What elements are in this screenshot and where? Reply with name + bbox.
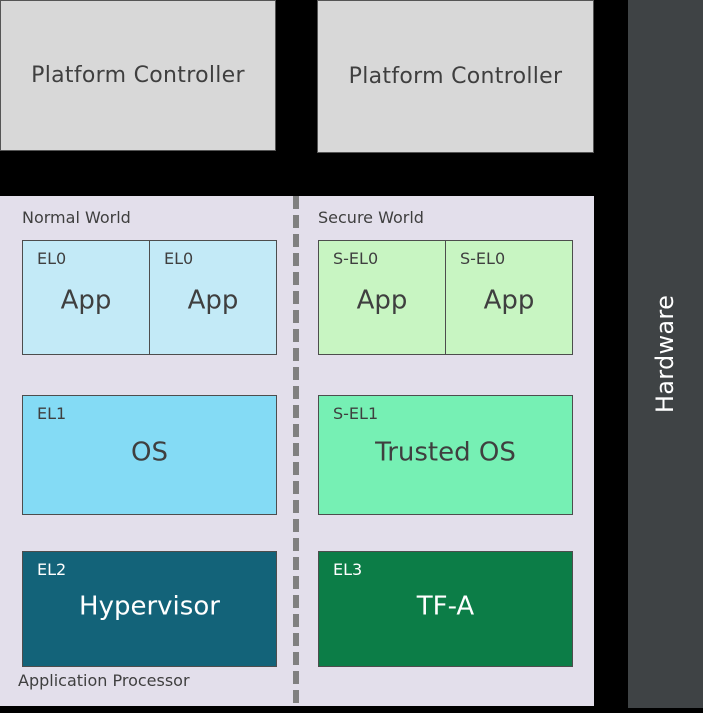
platform-controller-label: Platform Controller [31, 63, 245, 88]
exception-level-tag: S-EL0 [460, 249, 505, 268]
el0-app-box-1: EL0 App [22, 240, 150, 355]
el2-hypervisor-box: EL2 Hypervisor [22, 551, 277, 667]
layer-title: Trusted OS [319, 438, 572, 468]
normal-world-label: Normal World [22, 208, 131, 227]
layer-title: App [150, 285, 276, 315]
diagram-canvas: Platform Controller Platform Controller … [0, 0, 703, 713]
exception-level-tag: S-EL1 [333, 404, 378, 423]
exception-level-tag: EL0 [164, 249, 193, 268]
layer-title: App [23, 285, 149, 315]
exception-level-tag: EL0 [37, 249, 66, 268]
layer-title: Hypervisor [23, 592, 276, 622]
platform-controller-label: Platform Controller [349, 64, 563, 89]
layer-title: App [446, 285, 572, 315]
layer-title: TF-A [319, 592, 572, 622]
platform-controller-box-1: Platform Controller [0, 0, 276, 151]
exception-level-tag: EL1 [37, 404, 66, 423]
exception-level-tag: EL2 [37, 560, 66, 579]
secure-el1-trusted-os-box: S-EL1 Trusted OS [318, 395, 573, 515]
world-divider-dashed-line [293, 196, 299, 706]
secure-el0-app-box-1: S-EL0 App [318, 240, 446, 355]
hardware-label: Hardware [652, 295, 680, 413]
layer-title: OS [23, 438, 276, 468]
el3-tfa-box: EL3 TF-A [318, 551, 573, 667]
layer-title: App [319, 285, 445, 315]
application-processor-label: Application Processor [18, 671, 190, 690]
platform-controller-box-2: Platform Controller [317, 0, 594, 153]
el1-os-box: EL1 OS [22, 395, 277, 515]
hardware-strip: Hardware [628, 0, 703, 708]
exception-level-tag: S-EL0 [333, 249, 378, 268]
el0-app-box-2: EL0 App [149, 240, 277, 355]
exception-level-tag: EL3 [333, 560, 362, 579]
secure-el0-app-box-2: S-EL0 App [445, 240, 573, 355]
secure-world-label: Secure World [318, 208, 424, 227]
